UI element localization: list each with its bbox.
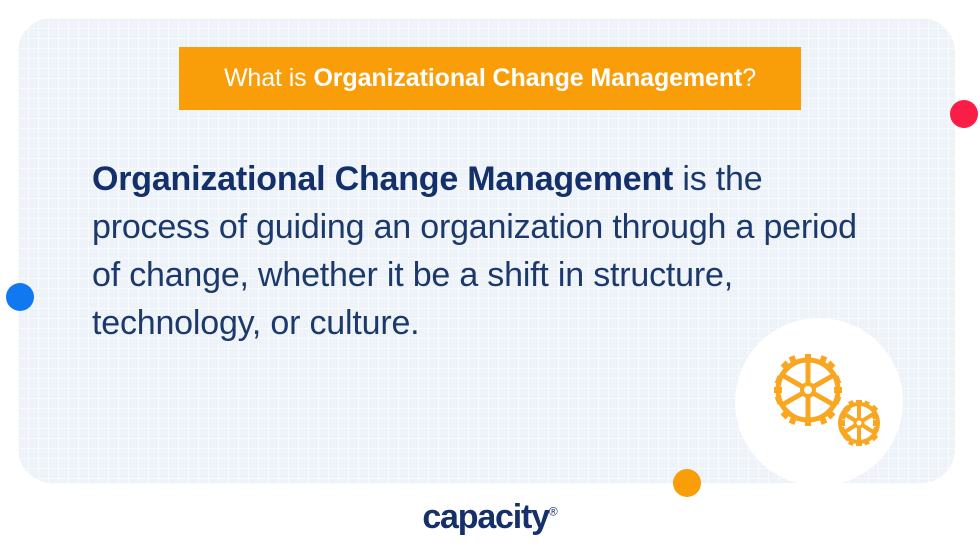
question-emphasis: Organizational Change Management <box>313 64 742 92</box>
capacity-logo: capacity® <box>0 498 980 537</box>
logo-wordmark: capacity <box>422 498 548 536</box>
gears-svg <box>753 340 893 460</box>
question-banner-text: What is Organizational Change Management… <box>224 64 756 93</box>
question-suffix: ? <box>742 64 756 92</box>
definition-term: Organizational Change Management <box>92 160 673 198</box>
definition-paragraph: Organizational Change Management is the … <box>92 155 862 347</box>
gears-illustration <box>753 340 893 460</box>
registered-trademark-icon: ® <box>549 505 558 519</box>
question-banner: What is Organizational Change Management… <box>179 47 801 110</box>
infographic-canvas: What is Organizational Change Management… <box>0 0 980 551</box>
blue-dot <box>6 283 34 311</box>
orange-dot <box>673 469 701 497</box>
red-dot <box>950 100 978 128</box>
small-gear <box>839 400 879 446</box>
large-gear <box>774 354 842 426</box>
question-prefix: What is <box>224 64 314 92</box>
